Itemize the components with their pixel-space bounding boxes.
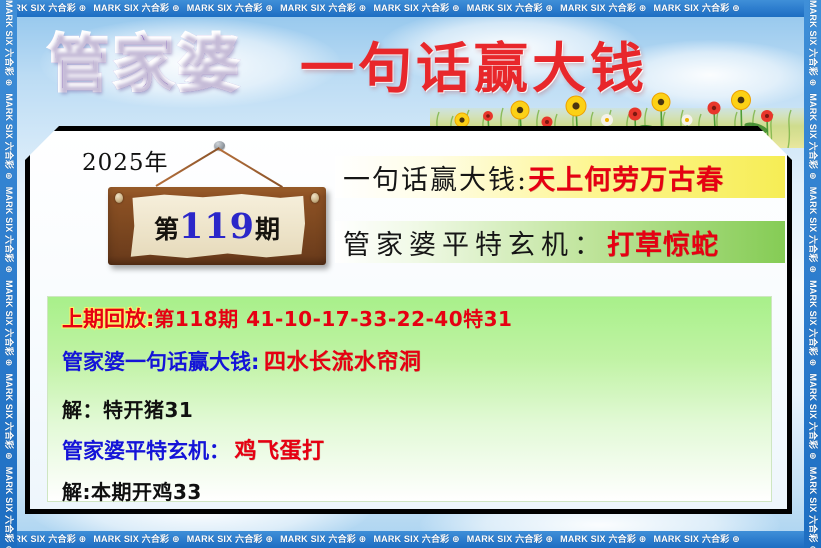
banner-pingte-answer: 打草惊蛇	[607, 223, 719, 262]
banner-yijuhua: 一句话赢大钱: 天上何劳万古春	[335, 156, 785, 198]
plaque-stud-left-icon	[115, 193, 123, 203]
border-tile: MARK SIX 六合彩 ⊕	[280, 4, 373, 13]
issue-suffix: 期	[255, 215, 280, 244]
previous-draw-numbers: 第118期 41-10-17-33-22-40特31	[154, 307, 512, 331]
border-tile: MARK SIX 六合彩 ⊕	[808, 373, 817, 466]
previous-pingte-explain: 解:本期开鸡33	[62, 482, 771, 503]
border-tile: MARK SIX 六合彩 ⊕	[187, 535, 280, 544]
issue-prefix: 第	[154, 215, 179, 244]
poster-canvas: MARK SIX 六合彩 ⊕ MARK SIX 六合彩 ⊕ MARK SIX 六…	[0, 0, 821, 548]
previous-draw-label: 上期回放:	[62, 307, 154, 331]
border-tile: MARK SIX 六合彩 ⊕	[467, 4, 560, 13]
plaque-paper: 第119期	[129, 194, 305, 258]
previous-draw-row: 上期回放:第118期 41-10-17-33-22-40特31	[62, 309, 771, 330]
border-tile: MARK SIX 六合彩 ⊕	[808, 280, 817, 373]
panel-background: 2025年 第119期 一句话赢大钱:	[30, 131, 787, 509]
border-tile: MARK SIX 六合彩 ⊕	[654, 535, 747, 544]
plaque-board: 第119期	[108, 187, 326, 265]
border-left: MARK SIX 六合彩 ⊕ MARK SIX 六合彩 ⊕ MARK SIX 六…	[0, 0, 17, 548]
previous-pingte-answer: 鸡飞蛋打	[234, 439, 324, 464]
border-tile: MARK SIX 六合彩 ⊕	[187, 4, 280, 13]
previous-pingte-row: 管家婆平特玄机： 鸡飞蛋打	[62, 441, 771, 463]
previous-yijuhua-label: 管家婆一句话赢大钱:	[62, 350, 259, 374]
issue-plaque: 第119期	[96, 137, 341, 297]
border-right: MARK SIX 六合彩 ⊕ MARK SIX 六合彩 ⊕ MARK SIX 六…	[804, 0, 821, 548]
border-tile: MARK SIX 六合彩 ⊕	[4, 280, 13, 373]
border-tile: MARK SIX 六合彩 ⊕	[4, 373, 13, 466]
previous-yijuhua-explain-text: 解：特开猪31	[62, 398, 193, 422]
border-top: MARK SIX 六合彩 ⊕ MARK SIX 六合彩 ⊕ MARK SIX 六…	[0, 0, 821, 17]
border-bottom: MARK SIX 六合彩 ⊕ MARK SIX 六合彩 ⊕ MARK SIX 六…	[0, 531, 821, 548]
main-content-panel: 2025年 第119期 一句话赢大钱:	[25, 126, 792, 514]
rope-left	[155, 147, 219, 187]
previous-pingte-label: 管家婆平特玄机：	[62, 439, 230, 463]
banner-yijuhua-label: 一句话赢大钱:	[343, 158, 528, 197]
previous-yijuhua-answer: 四水长流水帘洞	[264, 350, 422, 375]
border-tile: MARK SIX 六合彩 ⊕	[280, 535, 373, 544]
border-tile: MARK SIX 六合彩 ⊕	[93, 535, 186, 544]
issue-number-text: 第119期	[154, 209, 280, 244]
previous-yijuhua-explain: 解：特开猪31	[62, 400, 771, 421]
banner-yijuhua-answer: 天上何劳万古春	[528, 158, 724, 197]
border-tile: MARK SIX 六合彩 ⊕	[4, 93, 13, 186]
border-tile: MARK SIX 六合彩 ⊕	[808, 467, 817, 548]
rope-right	[218, 148, 282, 188]
border-tile: MARK SIX 六合彩 ⊕	[4, 467, 13, 548]
banner-pingte: 管家婆平特玄机： 打草惊蛇	[335, 221, 785, 263]
border-tile: MARK SIX 六合彩 ⊕	[560, 4, 653, 13]
border-tile: MARK SIX 六合彩 ⊕	[808, 93, 817, 186]
border-tile: MARK SIX 六合彩 ⊕	[808, 0, 817, 93]
previous-pingte-explain-text: 解:本期开鸡33	[62, 480, 202, 504]
banner-pingte-label: 管家婆平特玄机：	[343, 223, 607, 262]
results-box: 上期回放:第118期 41-10-17-33-22-40特31 管家婆一句话赢大…	[47, 296, 772, 502]
border-tile: MARK SIX 六合彩 ⊕	[560, 535, 653, 544]
border-tile: MARK SIX 六合彩 ⊕	[808, 187, 817, 280]
border-tile: MARK SIX 六合彩 ⊕	[373, 535, 466, 544]
border-tile: MARK SIX 六合彩 ⊕	[93, 4, 186, 13]
previous-yijuhua-row: 管家婆一句话赢大钱: 四水长流水帘洞	[62, 352, 771, 374]
border-tile: MARK SIX 六合彩 ⊕	[4, 187, 13, 280]
plaque-stud-right-icon	[311, 193, 319, 203]
border-tile: MARK SIX 六合彩 ⊕	[654, 4, 747, 13]
border-tile: MARK SIX 六合彩 ⊕	[467, 535, 560, 544]
border-tile: MARK SIX 六合彩 ⊕	[4, 0, 13, 93]
brand-title: 管家婆	[47, 33, 242, 95]
border-tile: MARK SIX 六合彩 ⊕	[373, 4, 466, 13]
issue-number: 119	[179, 206, 255, 247]
